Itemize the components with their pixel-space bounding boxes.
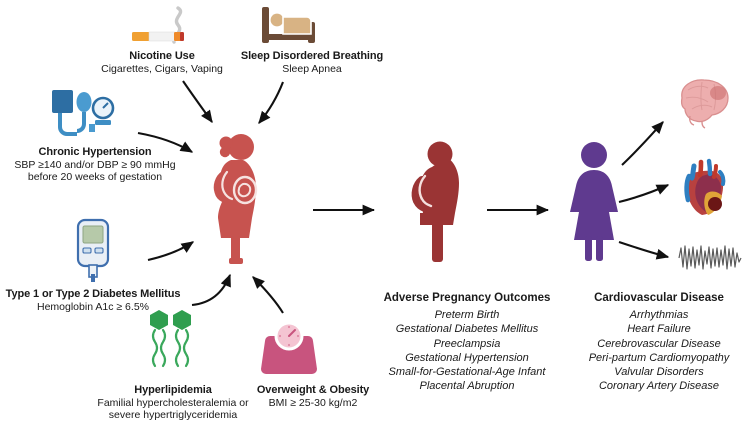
block-cardiovascular-disease: Cardiovascular Disease Arrhythmias Heart… [570, 291, 748, 394]
arrow-diabetes-to-figure [148, 242, 193, 260]
label-diabetes-mellitus: Type 1 or Type 2 Diabetes Mellitus Hemog… [0, 288, 186, 313]
outcomes-title: Cardiovascular Disease [570, 291, 748, 306]
weight-scale-icon [258, 322, 320, 378]
label-title: Sleep Disordered Breathing [226, 50, 398, 63]
brain-icon [672, 76, 734, 128]
arrow-figure3-to-ecg [619, 242, 668, 257]
diagram-canvas: Nicotine Use Cigarettes, Cigars, Vaping … [0, 0, 749, 420]
outcome-item: Heart Failure [570, 322, 748, 336]
block-adverse-pregnancy-outcomes: Adverse Pregnancy Outcomes Preterm Birth… [353, 291, 581, 394]
outcome-item: Gestational Hypertension [353, 351, 581, 365]
outcome-item: Coronary Artery Disease [570, 379, 748, 393]
anatomical-heart-icon [676, 158, 732, 220]
label-title: Type 1 or Type 2 Diabetes Mellitus [0, 288, 186, 301]
label-title: Chronic Hypertension [0, 146, 190, 159]
outcome-item: Cerebrovascular Disease [570, 337, 748, 351]
arrow-nicotine-to-figure [183, 81, 212, 122]
arrow-figure3-to-brain [622, 122, 663, 165]
label-subtitle: Cigarettes, Cigars, Vaping [92, 63, 232, 75]
figure-adult-woman [563, 140, 625, 262]
arrow-obesity-to-figure [253, 277, 283, 313]
outcome-item: Arrhythmias [570, 308, 748, 322]
label-subtitle: Sleep Apnea [226, 63, 398, 75]
arrow-hyperlipidemia-to-figure [192, 275, 230, 305]
label-subtitle-line1: SBP ≥140 and/or DBP ≥ 90 mmHg [0, 159, 190, 171]
outcome-item: Placental Abruption [353, 379, 581, 393]
arrow-figure3-to-heart [619, 185, 668, 202]
outcome-item: Preeclampsia [353, 337, 581, 351]
label-subtitle: BMI ≥ 25-30 kg/m2 [234, 397, 392, 409]
label-chronic-hypertension: Chronic Hypertension SBP ≥140 and/or DBP… [0, 146, 190, 184]
ecg-arrhythmia-waveform-icon [678, 240, 742, 276]
outcome-item: Gestational Diabetes Mellitus [353, 322, 581, 336]
glucometer-icon [66, 218, 122, 284]
label-sleep-disordered-breathing: Sleep Disordered Breathing Sleep Apnea [226, 50, 398, 75]
outcome-item: Valvular Disorders [570, 365, 748, 379]
figure-pregnant-woman [408, 140, 474, 264]
outcomes-title: Adverse Pregnancy Outcomes [353, 291, 581, 306]
lipid-molecule-icon [140, 308, 202, 370]
label-subtitle: Hemoglobin A1c ≥ 6.5% [0, 301, 186, 313]
arrow-sleep-to-figure [259, 82, 283, 123]
outcome-item: Peri-partum Cardiomyopathy [570, 351, 748, 365]
outcome-item: Preterm Birth [353, 308, 581, 322]
blood-pressure-monitor-icon [48, 84, 120, 144]
figure-pregnant-woman-with-fetus [205, 132, 275, 264]
outcome-item: Small-for-Gestational-Age Infant [353, 365, 581, 379]
cigarette-icon [128, 4, 196, 48]
bed-icon [258, 5, 320, 47]
label-title: Nicotine Use [92, 50, 232, 63]
label-nicotine-use: Nicotine Use Cigarettes, Cigars, Vaping [92, 50, 232, 75]
label-subtitle-line2: before 20 weeks of gestation [0, 171, 190, 183]
